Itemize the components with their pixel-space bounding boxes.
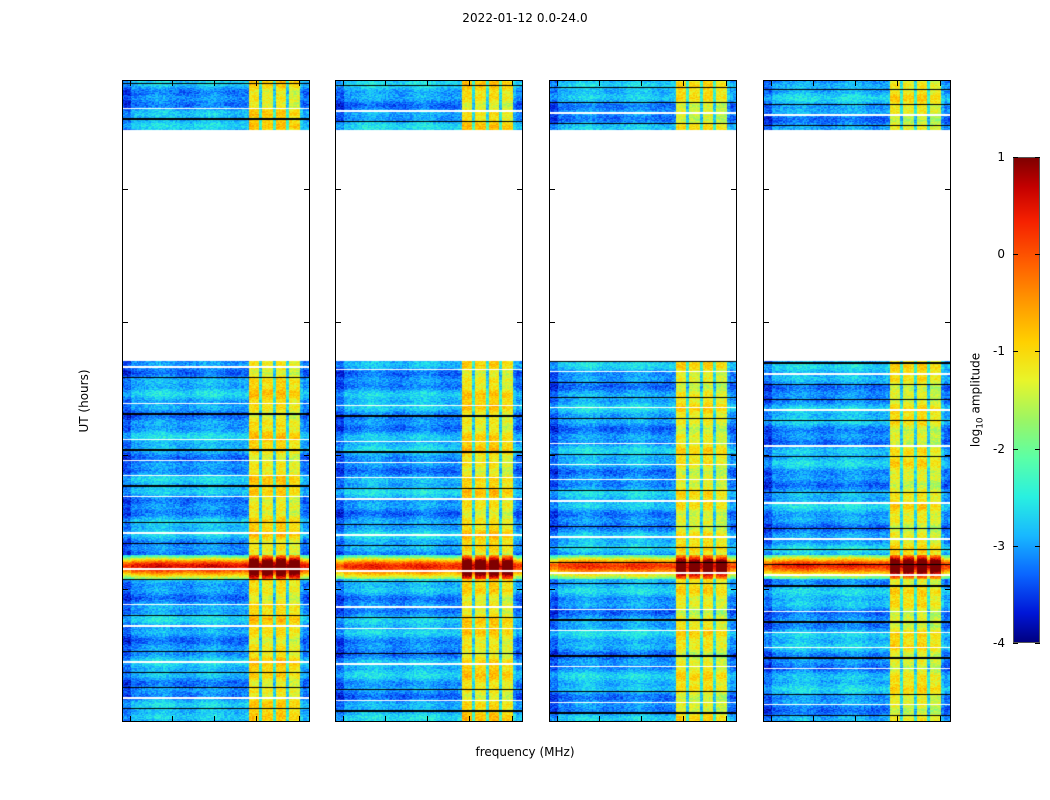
y-tick-mark bbox=[550, 455, 555, 456]
y-tick-mark bbox=[731, 189, 736, 190]
x-tick-mark bbox=[214, 81, 215, 86]
y-tick-mark bbox=[517, 189, 522, 190]
y-tick-mark bbox=[336, 189, 341, 190]
y-tick-mark bbox=[764, 189, 769, 190]
colorbar-label-subscript: 10 bbox=[976, 417, 986, 428]
y-tick-mark bbox=[731, 589, 736, 590]
x-tick-mark bbox=[599, 81, 600, 86]
waterfall-panel-xx[interactable]: XX, V0*V11=EA28*EA1405101520320335350365… bbox=[122, 80, 310, 722]
x-tick-mark bbox=[385, 716, 386, 721]
y-tick-mark bbox=[764, 589, 769, 590]
waterfall-image bbox=[123, 81, 309, 721]
y-tick-mark bbox=[123, 189, 128, 190]
x-tick-mark bbox=[299, 81, 300, 86]
colorbar-tick-mark bbox=[1035, 254, 1040, 255]
waterfall-panel-xy[interactable]: XY, V0*V11=EA28*EA1405101520320335350365… bbox=[549, 80, 737, 722]
colorbar-tick-mark bbox=[1035, 157, 1040, 158]
y-tick-mark bbox=[517, 322, 522, 323]
colorbar-tick-label: -1 bbox=[993, 344, 1005, 358]
x-tick-mark bbox=[172, 81, 173, 86]
colorbar-label: log10 amplitude bbox=[968, 353, 985, 447]
waterfall-canvas bbox=[764, 81, 950, 721]
y-tick-mark bbox=[517, 455, 522, 456]
x-tick-mark bbox=[897, 716, 898, 721]
colorbar-tick-label: -4 bbox=[993, 636, 1005, 650]
colorbar-tick-mark bbox=[1013, 449, 1018, 450]
y-tick-mark bbox=[336, 589, 341, 590]
x-tick-mark bbox=[557, 716, 558, 721]
colorbar-tick-label: 1 bbox=[997, 150, 1005, 164]
x-tick-mark bbox=[641, 716, 642, 721]
x-tick-mark bbox=[343, 81, 344, 86]
y-tick-mark bbox=[550, 189, 555, 190]
y-tick-mark bbox=[945, 189, 950, 190]
y-tick-mark bbox=[550, 589, 555, 590]
y-tick-mark bbox=[731, 455, 736, 456]
colorbar-tick-mark bbox=[1013, 643, 1018, 644]
colorbar-tick-mark bbox=[1013, 157, 1018, 158]
colorbar-tick-label: -3 bbox=[993, 539, 1005, 553]
x-tick-mark bbox=[256, 716, 257, 721]
x-tick-mark bbox=[599, 716, 600, 721]
x-tick-mark bbox=[427, 716, 428, 721]
x-tick-mark bbox=[726, 716, 727, 721]
y-tick-mark bbox=[945, 455, 950, 456]
colorbar-tick-mark bbox=[1035, 351, 1040, 352]
x-tick-mark bbox=[385, 81, 386, 86]
x-tick-mark bbox=[557, 81, 558, 86]
x-tick-mark bbox=[940, 81, 941, 86]
y-tick-mark bbox=[123, 455, 128, 456]
x-tick-mark bbox=[130, 716, 131, 721]
y-tick-mark bbox=[304, 455, 309, 456]
x-tick-mark bbox=[172, 716, 173, 721]
waterfall-panel-yx[interactable]: YX, V0*V11=EA28*EA1405101520320335350365… bbox=[763, 80, 951, 722]
x-axis-label: frequency (MHz) bbox=[0, 745, 1050, 759]
x-tick-mark bbox=[771, 716, 772, 721]
x-tick-mark bbox=[855, 716, 856, 721]
x-tick-mark bbox=[427, 81, 428, 86]
waterfall-panel-yy[interactable]: YY, V0*V11=EA28*EA1405101520320335350365… bbox=[335, 80, 523, 722]
colorbar-tick-mark bbox=[1013, 254, 1018, 255]
y-tick-mark bbox=[550, 322, 555, 323]
colorbar[interactable] bbox=[1013, 157, 1040, 643]
waterfall-canvas bbox=[123, 81, 309, 721]
x-tick-mark bbox=[771, 81, 772, 86]
x-tick-mark bbox=[469, 81, 470, 86]
colorbar-tick-mark bbox=[1035, 449, 1040, 450]
x-tick-mark bbox=[512, 716, 513, 721]
colorbar-label-tail: amplitude bbox=[968, 353, 982, 417]
colorbar-gradient bbox=[1014, 158, 1039, 642]
y-tick-mark bbox=[304, 322, 309, 323]
x-tick-mark bbox=[214, 716, 215, 721]
y-tick-mark bbox=[336, 322, 341, 323]
colorbar-tick-mark bbox=[1013, 546, 1018, 547]
y-tick-mark bbox=[304, 589, 309, 590]
x-tick-mark bbox=[683, 716, 684, 721]
y-axis-label: UT (hours) bbox=[77, 369, 91, 432]
colorbar-tick-mark bbox=[1035, 643, 1040, 644]
x-tick-mark bbox=[469, 716, 470, 721]
x-tick-mark bbox=[512, 81, 513, 86]
waterfall-image bbox=[550, 81, 736, 721]
x-tick-mark bbox=[256, 81, 257, 86]
y-tick-mark bbox=[764, 322, 769, 323]
x-tick-mark bbox=[683, 81, 684, 86]
x-tick-mark bbox=[855, 81, 856, 86]
y-tick-mark bbox=[123, 322, 128, 323]
x-tick-mark bbox=[940, 716, 941, 721]
x-tick-mark bbox=[641, 81, 642, 86]
x-tick-mark bbox=[813, 716, 814, 721]
y-tick-mark bbox=[336, 455, 341, 456]
colorbar-tick-label: 0 bbox=[997, 247, 1005, 261]
y-tick-mark bbox=[517, 589, 522, 590]
y-tick-mark bbox=[764, 455, 769, 456]
waterfall-canvas bbox=[550, 81, 736, 721]
figure-title: 2022-01-12 0.0-24.0 bbox=[0, 11, 1050, 25]
colorbar-tick-label: -2 bbox=[993, 442, 1005, 456]
waterfall-image bbox=[764, 81, 950, 721]
x-tick-mark bbox=[299, 716, 300, 721]
y-tick-mark bbox=[945, 589, 950, 590]
waterfall-image bbox=[336, 81, 522, 721]
x-tick-mark bbox=[897, 81, 898, 86]
x-tick-mark bbox=[343, 716, 344, 721]
y-tick-mark bbox=[123, 589, 128, 590]
x-tick-mark bbox=[726, 81, 727, 86]
colorbar-tick-mark bbox=[1035, 546, 1040, 547]
y-tick-mark bbox=[731, 322, 736, 323]
y-tick-mark bbox=[945, 322, 950, 323]
colorbar-tick-mark bbox=[1013, 351, 1018, 352]
waterfall-canvas bbox=[336, 81, 522, 721]
y-tick-mark bbox=[304, 189, 309, 190]
x-tick-mark bbox=[130, 81, 131, 86]
colorbar-label-main: log bbox=[968, 429, 982, 447]
x-tick-mark bbox=[813, 81, 814, 86]
